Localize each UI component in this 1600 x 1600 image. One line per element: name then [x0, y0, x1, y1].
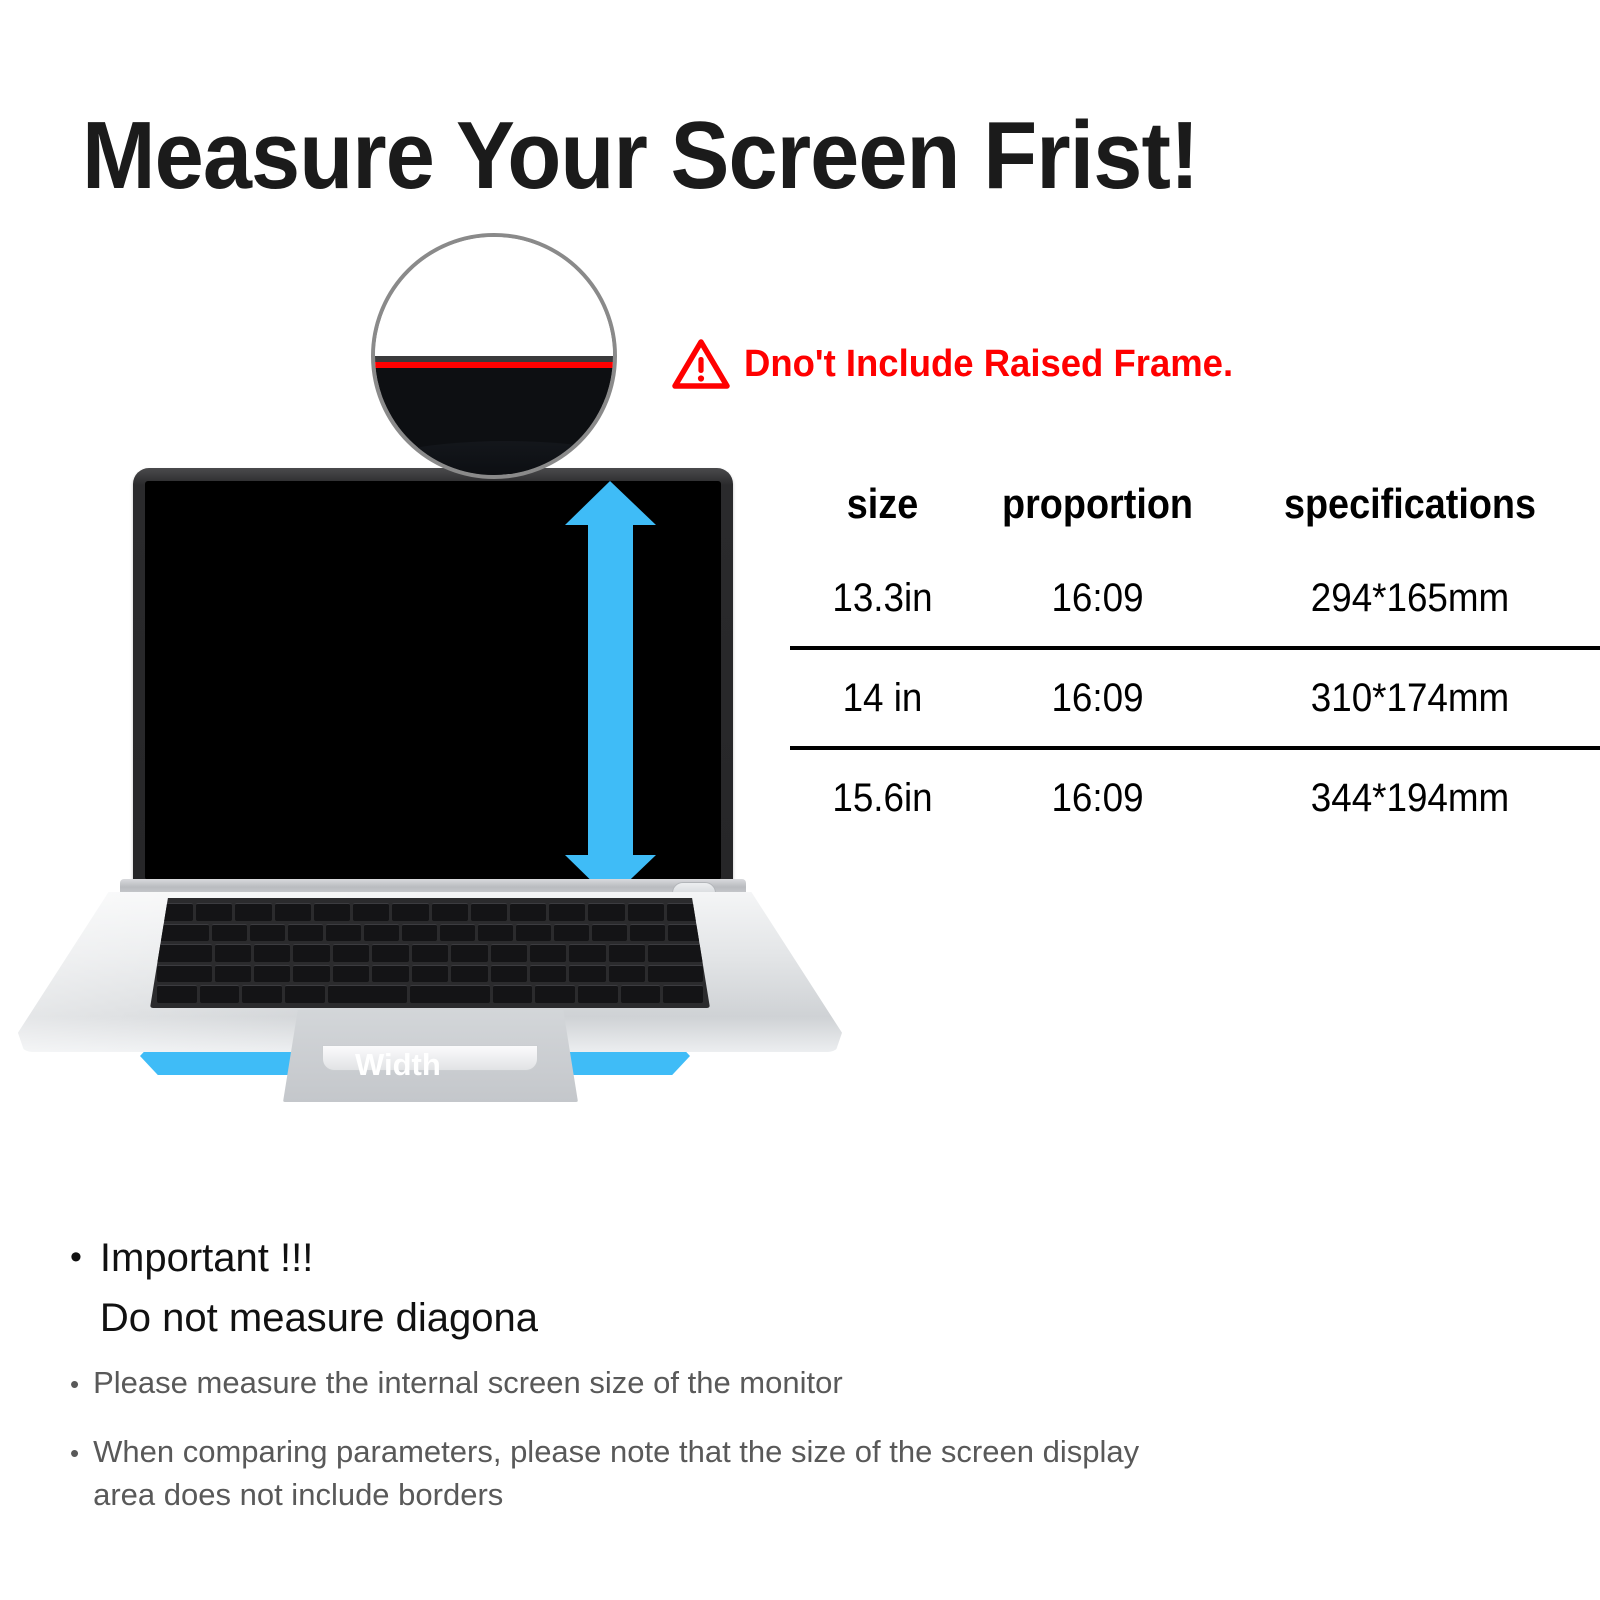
- bullet-glyph-icon: •: [70, 1228, 82, 1348]
- cell-specifications: 310*174mm: [1235, 676, 1585, 721]
- cell-proportion: 16:09: [985, 776, 1210, 821]
- cell-specifications: 294*165mm: [1235, 576, 1585, 621]
- magnifier-screen-area: [375, 368, 613, 475]
- raised-frame-warning: Dno't Include Raised Frame.: [672, 338, 1253, 390]
- secondary-notes: • Please measure the internal screen siz…: [70, 1362, 1170, 1542]
- page-title: Measure Your Screen Frist!: [82, 108, 1198, 204]
- spec-header-proportion: proportion: [987, 480, 1208, 528]
- cell-proportion: 16:09: [985, 676, 1210, 721]
- magnifier-sheen: [371, 441, 617, 479]
- magnifier-background: [375, 237, 613, 356]
- spec-table: size proportion specifications 13.3in 16…: [790, 480, 1600, 846]
- note-text: Please measure the internal screen size …: [93, 1362, 843, 1405]
- width-label: Width: [355, 1047, 441, 1083]
- list-item: • Please measure the internal screen siz…: [70, 1362, 1170, 1405]
- bullet-glyph-icon: •: [70, 1362, 79, 1405]
- list-item: • When comparing parameters, please note…: [70, 1431, 1170, 1517]
- important-line-1: Important !!!: [100, 1228, 538, 1288]
- laptop-illustration: Width Height: [0, 455, 860, 1075]
- spec-table-header-row: size proportion specifications: [790, 480, 1600, 550]
- table-row: 13.3in 16:09 294*165mm: [790, 550, 1600, 646]
- infographic-page: Measure Your Screen Frist! Dno't Include…: [0, 0, 1600, 1600]
- bullet-glyph-icon: •: [70, 1431, 79, 1517]
- warning-text: Dno't Include Raised Frame.: [744, 343, 1233, 386]
- laptop-screen: [145, 481, 721, 880]
- important-note: • Important !!! Do not measure diagona: [70, 1228, 538, 1348]
- table-row: 15.6in 16:09 344*194mm: [790, 750, 1600, 846]
- laptop-keyboard: [150, 898, 710, 1008]
- table-row: 14 in 16:09 310*174mm: [790, 650, 1600, 746]
- laptop-lid: [133, 468, 733, 893]
- cell-proportion: 16:09: [985, 576, 1210, 621]
- magnifier-circle: [371, 233, 617, 479]
- spec-header-specifications: specifications: [1239, 480, 1581, 528]
- height-label: Height: [608, 1095, 642, 1194]
- important-note-text: Important !!! Do not measure diagona: [100, 1228, 538, 1348]
- cell-specifications: 344*194mm: [1235, 776, 1585, 821]
- warning-triangle-icon: [672, 338, 730, 390]
- important-line-2: Do not measure diagona: [100, 1288, 538, 1348]
- note-text: When comparing parameters, please note t…: [93, 1431, 1170, 1517]
